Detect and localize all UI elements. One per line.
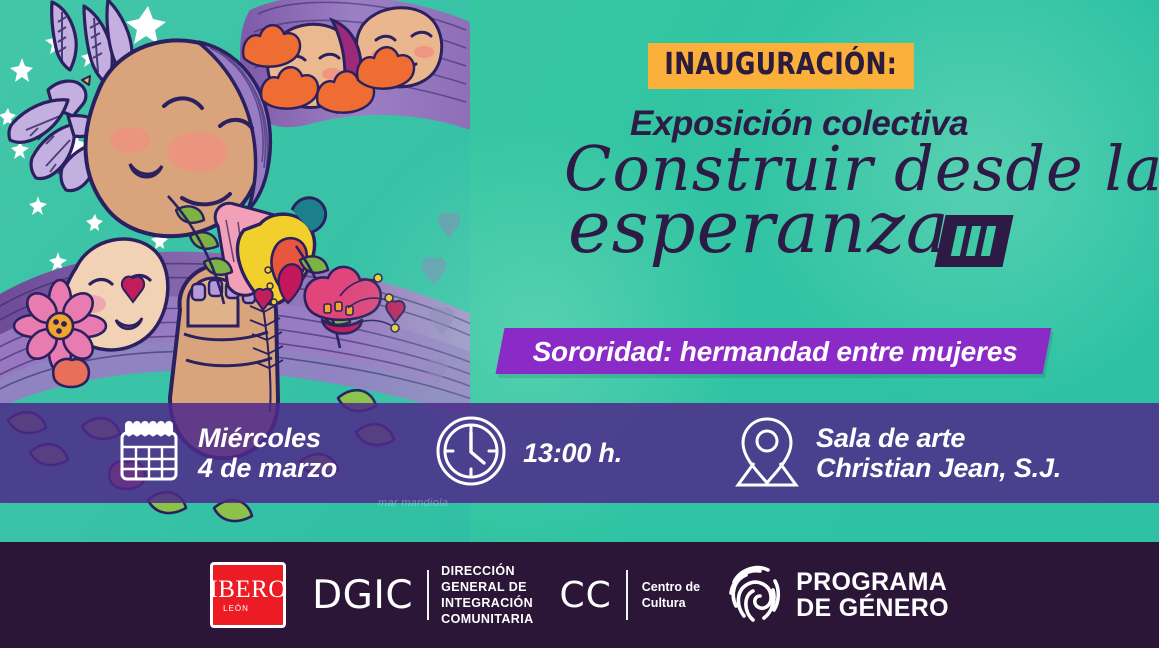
cc-line-2: Cultura: [642, 596, 686, 610]
date-line-2: 4 de marzo: [198, 453, 337, 483]
dgic-full-name: DIRECCIÓN GENERAL DE INTEGRACIÓN COMUNIT…: [441, 563, 533, 627]
numeral-bar-3: [981, 226, 996, 256]
title-line-2: esperanza: [568, 194, 1159, 262]
dgic-line-1: DIRECCIÓN: [441, 564, 515, 578]
dgic-line-4: COMUNITARIA: [441, 612, 533, 626]
divider-dgic: [427, 570, 429, 620]
info-item-time: 13:00 h.: [337, 415, 622, 492]
dgic-line-2: GENERAL DE: [441, 580, 527, 594]
info-item-location: Sala de arte Christian Jean, S.J.: [622, 413, 1061, 494]
ibero-logo: IBERO LEÓN: [210, 562, 286, 628]
info-date-text: Miércoles 4 de marzo: [198, 423, 337, 483]
location-pin-icon: [732, 413, 802, 494]
calendar-icon: [118, 419, 180, 488]
programa-line-2: DE GÉNERO: [796, 594, 949, 622]
fingerprint-icon: [726, 562, 784, 629]
ibero-logo-city: LEÓN: [223, 604, 249, 613]
programa-de-genero-logo: PROGRAMA DE GÉNERO: [726, 562, 949, 629]
info-item-date: Miércoles 4 de marzo: [0, 419, 337, 488]
info-time-text: 13:00 h.: [523, 438, 622, 468]
event-poster: INAUGURACIÓN: Exposición colectiva Const…: [0, 0, 1159, 648]
programa-de-genero-text: PROGRAMA DE GÉNERO: [796, 569, 949, 622]
edition-numeral-badge: [934, 215, 1013, 267]
clock-icon: [435, 415, 507, 492]
info-location-text: Sala de arte Christian Jean, S.J.: [816, 423, 1061, 483]
cc-line-1: Centro de: [642, 580, 700, 594]
main-title: Construir desde la esperanza: [540, 140, 1159, 266]
event-info-bar: Miércoles 4 de marzo 13:00 h.: [0, 403, 1159, 503]
numeral-bar-1: [951, 226, 966, 256]
divider-cc: [626, 570, 628, 620]
artist-signature: mar mandiola: [378, 498, 448, 510]
programa-line-1: PROGRAMA: [796, 568, 947, 596]
subtitle-banner-label: Sororidad: hermandad entre mujeres: [501, 328, 1048, 368]
ibero-logo-name: IBERO: [209, 577, 287, 602]
subtitle-banner: Sororidad: hermandad entre mujeres: [496, 328, 1052, 374]
footer-logo-bar: IBERO LEÓN DGIC DIRECCIÓN GENERAL DE INT…: [0, 542, 1159, 648]
cc-full-name: Centro de Cultura: [642, 579, 700, 612]
cc-acronym: CC: [560, 575, 612, 616]
numeral-bar-2: [966, 226, 981, 256]
inauguration-tag: INAUGURACIÓN:: [648, 43, 914, 89]
date-line-1: Miércoles: [198, 423, 321, 453]
location-line-1: Sala de arte: [816, 423, 965, 453]
location-line-2: Christian Jean, S.J.: [816, 453, 1061, 483]
dgic-line-3: INTEGRACIÓN: [441, 596, 533, 610]
inauguration-tag-label: INAUGURACIÓN:: [665, 50, 898, 80]
dgic-acronym: DGIC: [312, 573, 413, 618]
